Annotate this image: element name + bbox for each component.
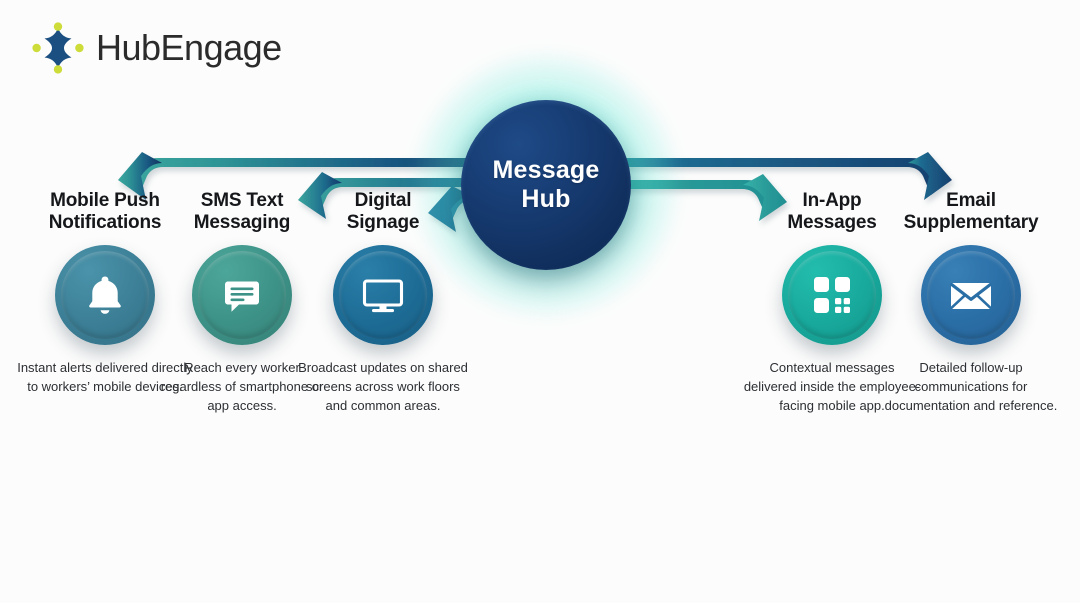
title-line-1: Mobile Push [50,190,160,211]
infographic-canvas: HubEngage [0,0,1080,603]
channel-icon-wrap-digital-signage [288,245,478,349]
channel-description-email: Detailed follow-up communications for do… [876,359,1066,416]
title-line-2: Notifications [49,212,161,233]
channel-icon-wrap-email [876,245,1066,349]
channel-node-digital-signage[interactable]: Digital Signage Broadcast updates on sha… [288,190,478,415]
hub-label-line2: Hub [521,185,570,213]
channel-title-digital-signage: Digital Signage [288,190,478,235]
title-line-1: SMS Text [201,190,284,211]
channel-icon-circle-sms[interactable] [192,245,292,345]
brand-logo: HubEngage [32,20,282,76]
channel-icon-circle-email[interactable] [921,245,1021,345]
channel-description-digital-signage: Broadcast updates on shared screens acro… [288,359,478,416]
envelope-icon [944,268,998,322]
title-line-2: Supplementary [904,212,1039,233]
channel-icon-circle-mobile-push[interactable] [55,245,155,345]
hub-label: Message Hub [492,156,599,215]
monitor-icon [356,268,410,322]
brand-name: HubEngage [96,30,282,66]
apps-grid-icon [807,270,857,320]
title-line-1: Digital [355,190,412,211]
title-line-1: In-App [803,190,862,211]
message-hub-node[interactable]: Message Hub [461,100,631,270]
channel-icon-circle-digital-signage[interactable] [333,245,433,345]
bell-icon [79,269,131,321]
hubengage-star-icon [32,22,84,74]
channel-node-email[interactable]: Email Supplementary Detailed follow-up c… [876,190,1066,415]
title-line-2: Signage [347,212,420,233]
speech-bubble-icon [216,269,268,321]
channel-icon-circle-in-app[interactable] [782,245,882,345]
title-line-2: Messaging [194,212,290,233]
title-line-2: Messages [787,212,876,233]
hub-disc: Message Hub [461,100,631,270]
channel-title-email: Email Supplementary [876,190,1066,235]
title-line-1: Email [946,190,996,211]
hub-label-line1: Message [492,156,599,184]
